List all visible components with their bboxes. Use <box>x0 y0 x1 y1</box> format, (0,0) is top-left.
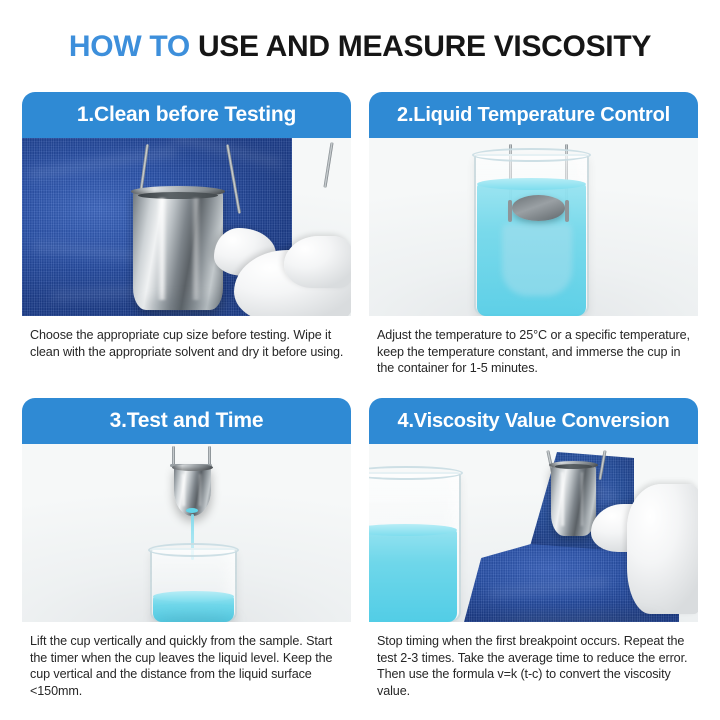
panel-step-3: 3.Test and Time <box>22 398 351 704</box>
photo-cup-on-blue-towel-with-gloved-hand <box>22 138 351 316</box>
panel-1-header: 1.Clean before Testing <box>22 92 351 138</box>
panel-3-header: 3.Test and Time <box>22 398 351 444</box>
panel-4-header: 4.Viscosity Value Conversion <box>369 398 698 444</box>
panel-1-caption: Choose the appropriate cup size before t… <box>22 316 351 398</box>
photo-cup-draining-stream-above-beaker <box>22 444 351 622</box>
panel-4-caption: Stop timing when the first breakpoint oc… <box>369 622 698 704</box>
panel-step-2: 2.Liquid Temperature Control <box>369 92 698 398</box>
panel-step-4: 4.Viscosity Value Conversion <box>369 398 698 704</box>
panel-2-caption: Adjust the temperature to 25°C or a spec… <box>369 316 698 398</box>
panel-3-caption: Lift the cup vertically and quickly from… <box>22 622 351 704</box>
panel-grid: 1.Clean before Testing <box>22 92 698 704</box>
panel-2-header: 2.Liquid Temperature Control <box>369 92 698 138</box>
page-title-rest: USE AND MEASURE VISCOSITY <box>198 30 651 63</box>
photo-beaker-and-cup-wiped-with-towel <box>369 444 698 622</box>
photo-cup-immersed-in-beaker-of-blue-liquid <box>369 138 698 316</box>
panel-step-1: 1.Clean before Testing <box>22 92 351 398</box>
page-title: HOW TO USE AND MEASURE VISCOSITY <box>0 27 720 67</box>
infographic-page: HOW TO USE AND MEASURE VISCOSITY 1.Clean… <box>0 0 720 720</box>
page-title-accent: HOW TO <box>69 30 190 63</box>
